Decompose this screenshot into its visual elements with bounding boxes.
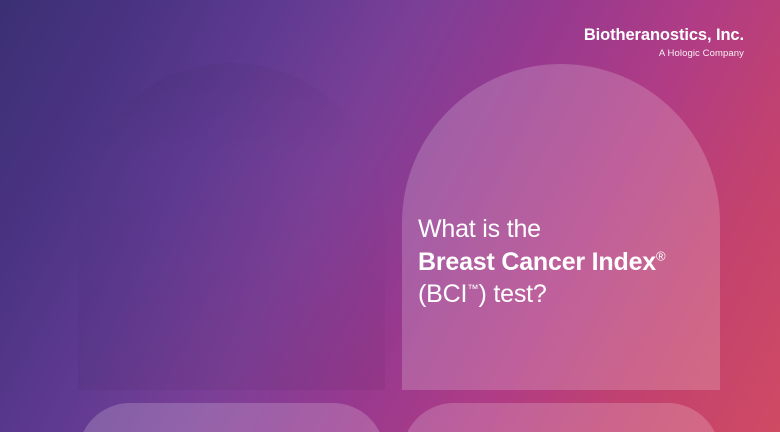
consultation-photo (78, 63, 385, 390)
consultation-photo-reflection (78, 403, 385, 432)
registered-trademark-symbol: ® (656, 248, 666, 263)
brand-name: Biotheranostics, Inc. (584, 26, 744, 45)
headline-arch-reflection (402, 403, 720, 432)
brand-tagline: A Hologic Company (584, 48, 744, 59)
title-product-name: Breast Cancer Index (418, 248, 656, 276)
brand-logo: Biotheranostics, Inc. A Hologic Company (584, 26, 744, 59)
title-line-2: Breast Cancer Index® (418, 246, 718, 279)
title-line-1: What is the (418, 213, 718, 246)
photo-shade-overlay (78, 63, 385, 390)
slide-canvas: Biotheranostics, Inc. A Hologic Company … (0, 0, 780, 432)
page-title: What is the Breast Cancer Index® (BCI™) … (418, 213, 718, 311)
trademark-symbol: ™ (467, 284, 478, 296)
title-line-3: (BCI™) test? (418, 278, 718, 311)
title-abbrev-close: ) test? (479, 280, 547, 308)
title-abbrev-open: (BCI (418, 280, 467, 308)
